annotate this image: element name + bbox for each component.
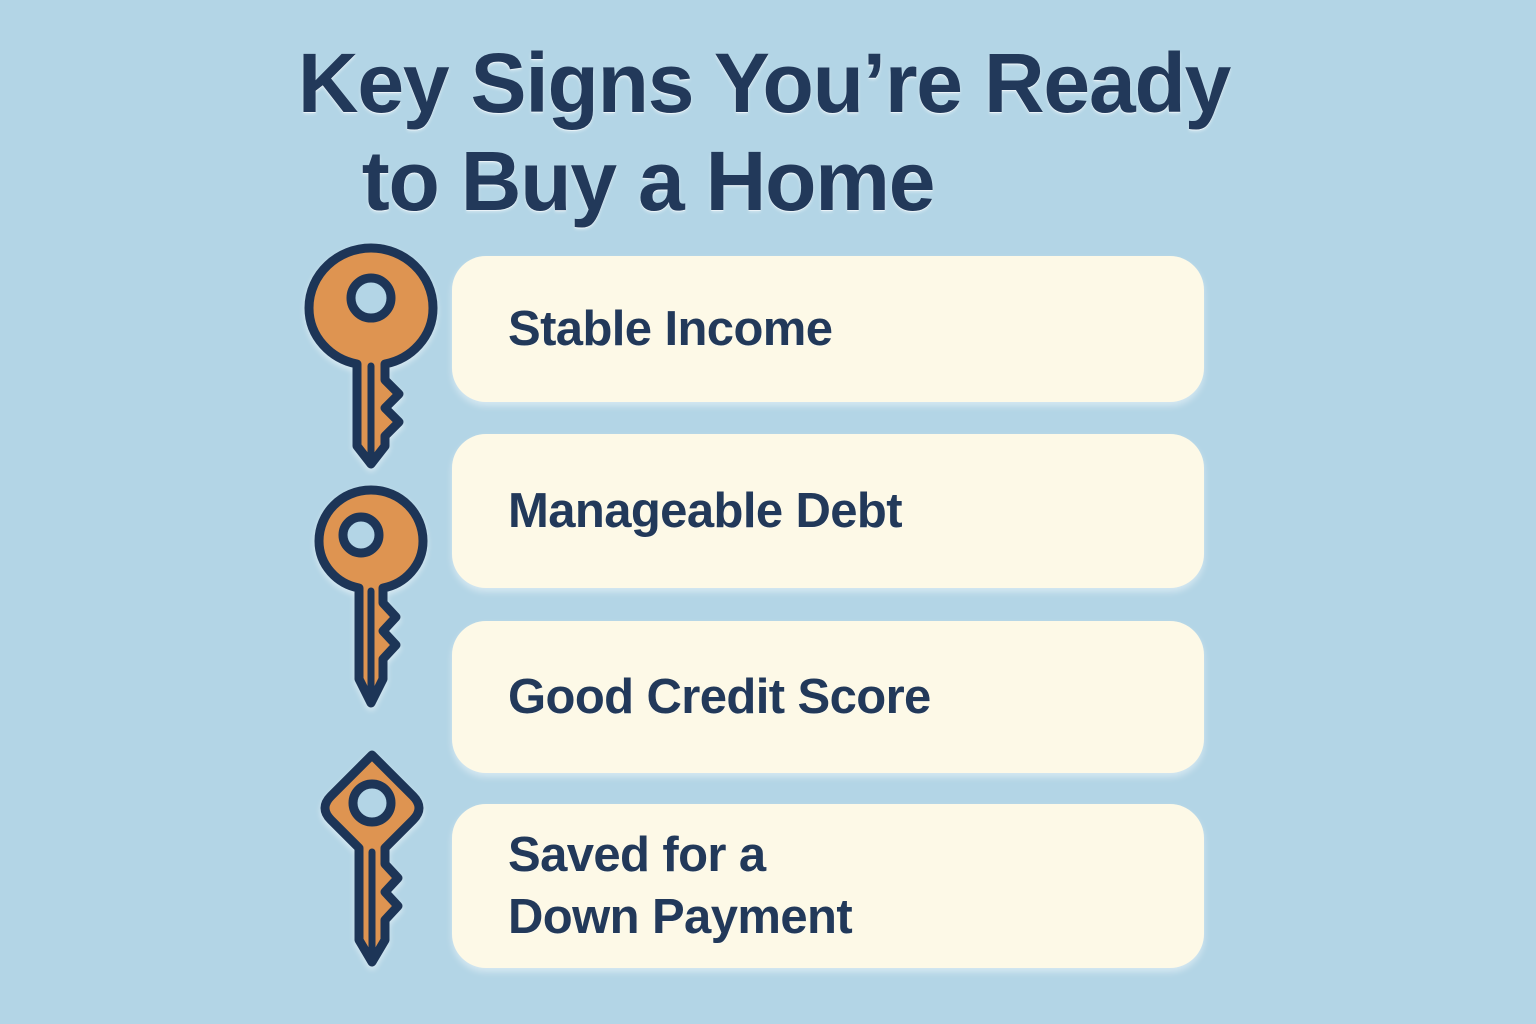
checklist-card[interactable]: Manageable Debt — [452, 434, 1204, 588]
checklist-card-label: Saved for a Down Payment — [452, 824, 852, 948]
key-icon — [303, 240, 439, 472]
checklist: Stable Income Manageable Debt Good Credi… — [0, 0, 1536, 1024]
checklist-card[interactable]: Saved for a Down Payment — [452, 804, 1204, 968]
checklist-card-label: Good Credit Score — [452, 666, 931, 728]
key-icon — [313, 748, 431, 970]
checklist-card-label: Manageable Debt — [452, 480, 902, 542]
checklist-card-label: Stable Income — [452, 298, 832, 360]
checklist-card[interactable]: Stable Income — [452, 256, 1204, 402]
key-icon — [313, 483, 429, 711]
checklist-card[interactable]: Good Credit Score — [452, 621, 1204, 773]
infographic-poster: Key Signs You’re Ready to Buy a Home Sta… — [0, 0, 1536, 1024]
